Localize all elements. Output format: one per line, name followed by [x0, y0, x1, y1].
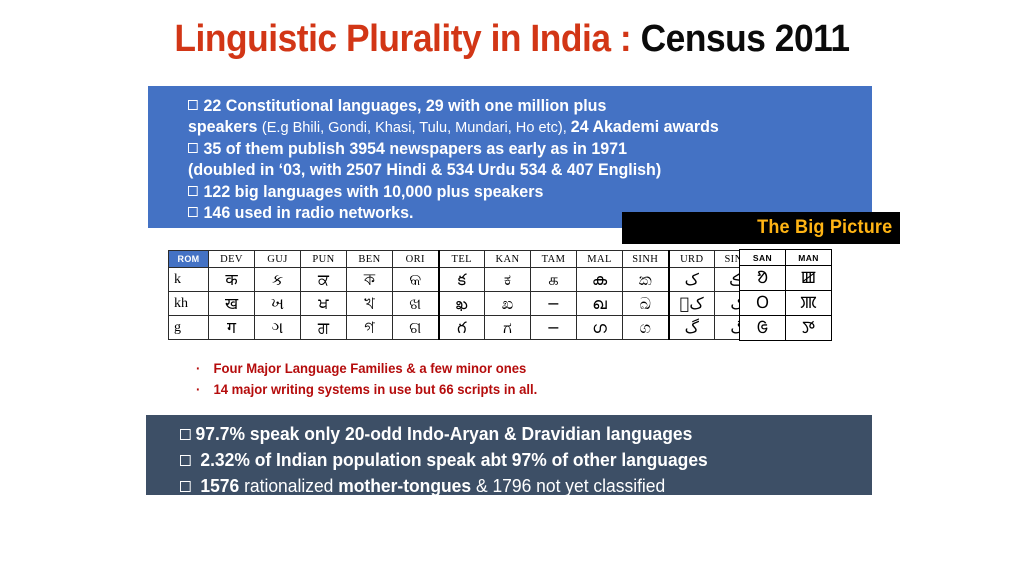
cell-urd: ک	[669, 268, 715, 292]
list-item-text-regular: rationalized	[244, 476, 338, 496]
list-item-text: 14 major writing systems in use but 66 s…	[213, 382, 537, 397]
list-item-text-bold: 1576	[196, 476, 245, 496]
column-header-tam: TAM	[531, 251, 577, 268]
cell-man: ꯄ	[786, 291, 832, 316]
column-header-ori: ORI	[393, 251, 439, 268]
table-header-row: SAN MAN	[740, 250, 832, 266]
cell-urd: کٖ	[669, 292, 715, 316]
cell-san: ᱚ	[740, 266, 786, 291]
cell-man: ꯀ	[786, 266, 832, 291]
column-header-dev: DEV	[209, 251, 255, 268]
list-item-text: 2.32% of Indian population speak abt 97%…	[196, 450, 708, 470]
column-header-tel: TEL	[439, 251, 485, 268]
column-header-guj: GUJ	[255, 251, 301, 268]
cell-urd: گ	[669, 316, 715, 340]
list-item-text-bold: 122 big languages	[204, 183, 347, 201]
bottom-summary-bullet-list: 97.7% speak only 20-odd Indo-Aryan & Dra…	[180, 421, 845, 499]
cell-ori: ଗ	[393, 316, 439, 340]
column-header-sinh: SINH	[623, 251, 669, 268]
cell-ben: ক	[347, 268, 393, 292]
cell-guj: ગ	[255, 316, 301, 340]
cell-dev: ख	[209, 292, 255, 316]
table-row: g ग ગ ਗ গ ଗ గ ಗ − ഗ ග گ گ	[169, 316, 761, 340]
list-item-text: (doubled in ‘03, with 2507 Hindi & 534 U…	[188, 161, 661, 179]
list-item-text: 146 used in radio networks.	[204, 204, 414, 222]
cell-sinh: ඛ	[623, 292, 669, 316]
cell-ben: খ	[347, 292, 393, 316]
page-title: Linguistic Plurality in India : Census 2…	[36, 18, 988, 61]
cell-san: ᱜ	[740, 316, 786, 341]
list-item-text: Four Major Language Families & a few min…	[213, 361, 526, 376]
column-header-pun: PUN	[301, 251, 347, 268]
page-title-black-part: Census 2011	[641, 18, 850, 60]
cell-mal: ക	[577, 268, 623, 292]
cell-dev: ग	[209, 316, 255, 340]
red-notes-list: ·Four Major Language Families & a few mi…	[196, 359, 537, 401]
cell-kan: ಕ	[485, 268, 531, 292]
list-item: 35 of them publish 3954 newspapers as ea…	[188, 139, 844, 160]
script-comparison-subtable: SAN MAN ᱚ ꯀ ᱛ ꯄ ᱜ ꯇ	[739, 249, 832, 341]
big-picture-label: The Big Picture	[757, 217, 892, 239]
column-header-rom: ROM	[169, 251, 209, 268]
dot-bullet-icon: ·	[196, 380, 213, 401]
cell-rom: kh	[169, 292, 209, 316]
cell-kan: ಗ	[485, 316, 531, 340]
top-facts-bullet-list: 22 Constitutional languages, 29 with one…	[188, 96, 844, 225]
list-item-text: 35 of them publish 3954 newspapers as ea…	[204, 140, 627, 158]
cell-ori: କ	[393, 268, 439, 292]
cell-rom: k	[169, 268, 209, 292]
list-item-text: 22 Constitutional languages, 29 with one…	[204, 97, 607, 115]
column-header-man: MAN	[786, 250, 832, 266]
list-item-text: 97.7% speak only 20-odd Indo-Aryan & Dra…	[196, 424, 693, 444]
page-title-red-part: Linguistic Plurality in India :	[174, 18, 631, 60]
cell-tel: గ	[439, 316, 485, 340]
square-bullet-icon	[180, 481, 191, 492]
cell-mal: ഗ	[577, 316, 623, 340]
column-header-mal: MAL	[577, 251, 623, 268]
list-item-text-bold-2: 24 Akademi awards	[571, 118, 719, 136]
cell-sinh: ග	[623, 316, 669, 340]
table-row: ᱚ ꯀ	[740, 266, 832, 291]
list-item: 97.7% speak only 20-odd Indo-Aryan & Dra…	[180, 421, 845, 447]
cell-rom: g	[169, 316, 209, 340]
cell-man: ꯇ	[786, 316, 832, 341]
cell-sinh: ක	[623, 268, 669, 292]
list-item-text-bold: speakers	[188, 118, 262, 136]
square-bullet-icon	[188, 207, 198, 217]
list-item-text-bold-2: mother-tongues	[338, 476, 476, 496]
list-item: 2.32% of Indian population speak abt 97%…	[180, 447, 845, 473]
cell-guj: ક	[255, 268, 301, 292]
column-header-kan: KAN	[485, 251, 531, 268]
script-comparison-table: ROM DEV GUJ PUN BEN ORI TEL KAN TAM MAL …	[168, 250, 761, 340]
table-row: kh ख ખ ਖ খ ଖ ఖ ಖ − ഖ ඛ کٖ ک	[169, 292, 761, 316]
cell-pun: ਖ	[301, 292, 347, 316]
cell-dev: क	[209, 268, 255, 292]
cell-tel: ఖ	[439, 292, 485, 316]
table-row: ᱛ ꯄ	[740, 291, 832, 316]
table-row: ᱜ ꯇ	[740, 316, 832, 341]
list-item: ·14 major writing systems in use but 66 …	[196, 380, 537, 401]
list-item: 1576 rationalized mother-tongues & 1796 …	[180, 473, 845, 499]
cell-tam: க	[531, 268, 577, 292]
square-bullet-icon	[180, 429, 191, 440]
cell-pun: ਕ	[301, 268, 347, 292]
cell-mal: ഖ	[577, 292, 623, 316]
cell-guj: ખ	[255, 292, 301, 316]
cell-kan: ಖ	[485, 292, 531, 316]
column-header-urd: URD	[669, 251, 715, 268]
cell-pun: ਗ	[301, 316, 347, 340]
list-item: (doubled in ‘03, with 2507 Hindi & 534 U…	[188, 160, 844, 181]
column-header-san: SAN	[740, 250, 786, 266]
list-item-text-regular: with 10,000 plus speakers	[347, 183, 544, 201]
big-picture-banner: The Big Picture	[622, 212, 900, 244]
list-item: 122 big languages with 10,000 plus speak…	[188, 182, 844, 203]
list-item-text-regular-2: & 1796 not yet classified	[476, 476, 665, 496]
table-row: k क ક ਕ ক କ క ಕ க ക ක ک ڪ	[169, 268, 761, 292]
cell-san: ᱛ	[740, 291, 786, 316]
cell-ori: ଖ	[393, 292, 439, 316]
square-bullet-icon	[188, 186, 198, 196]
table-header-row: ROM DEV GUJ PUN BEN ORI TEL KAN TAM MAL …	[169, 251, 761, 268]
square-bullet-icon	[180, 455, 191, 466]
column-header-ben: BEN	[347, 251, 393, 268]
list-item: ·Four Major Language Families & a few mi…	[196, 359, 537, 380]
top-facts-panel: 22 Constitutional languages, 29 with one…	[148, 86, 872, 228]
list-item: 22 Constitutional languages, 29 with one…	[188, 96, 844, 117]
cell-tam: −	[531, 292, 577, 316]
list-item-text-regular: (E.g Bhili, Gondi, Khasi, Tulu, Mundari,…	[262, 119, 571, 136]
cell-tel: క	[439, 268, 485, 292]
list-item: speakers (E.g Bhili, Gondi, Khasi, Tulu,…	[188, 117, 844, 138]
cell-ben: গ	[347, 316, 393, 340]
bottom-summary-panel: 97.7% speak only 20-odd Indo-Aryan & Dra…	[146, 415, 872, 495]
dot-bullet-icon: ·	[196, 359, 213, 380]
square-bullet-icon	[188, 100, 198, 110]
cell-tam: −	[531, 316, 577, 340]
square-bullet-icon	[188, 143, 198, 153]
